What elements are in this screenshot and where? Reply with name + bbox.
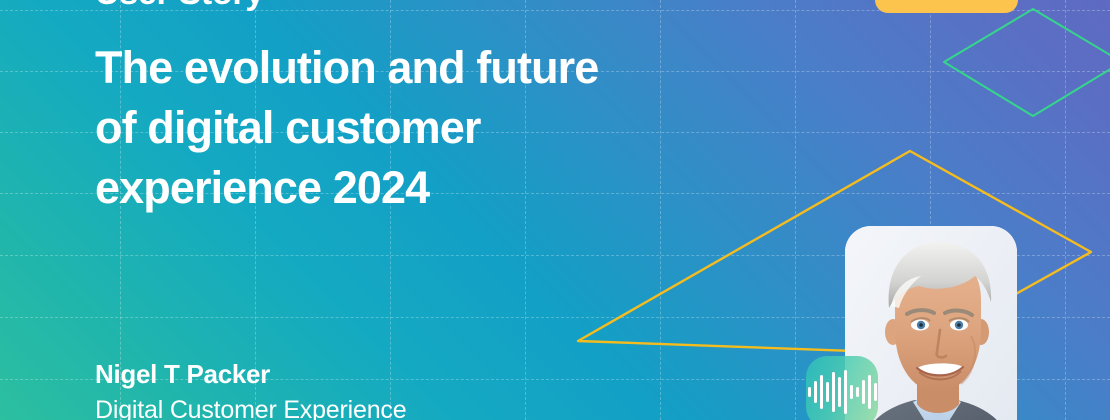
eyebrow-text: User Story [95, 0, 264, 13]
speaker-name: Nigel T Packer [95, 358, 406, 390]
grid-line-vertical [1065, 0, 1066, 420]
waveform-bar [820, 375, 823, 409]
title-line-3: experience 2024 [95, 158, 795, 218]
grid-line-vertical [795, 0, 796, 420]
waveform-bar [844, 370, 847, 414]
waveform-bar [862, 380, 865, 404]
yellow-pill-shape [875, 0, 1018, 13]
waveform-bar [826, 382, 829, 402]
speaker-role: Digital Customer Experience [95, 395, 406, 420]
waveform-bar [838, 377, 841, 407]
title-line-2: of digital customer [95, 98, 795, 158]
green-diamond-outline [944, 9, 1110, 116]
speaker-credit: Nigel T Packer Digital Customer Experien… [95, 358, 406, 420]
waveform-bar [808, 387, 811, 397]
presentation-slide: User Story The evolution and future of d… [0, 0, 1110, 420]
title-line-1: The evolution and future [95, 38, 795, 98]
waveform-bar [832, 372, 835, 412]
waveform-bar [874, 383, 877, 401]
waveform-bar [856, 387, 859, 397]
page-title: The evolution and future of digital cust… [95, 38, 795, 218]
waveform-bar [868, 375, 871, 409]
waveform-bar [850, 385, 853, 399]
audio-waveform-icon[interactable] [806, 356, 878, 420]
waveform-bar [814, 381, 817, 403]
